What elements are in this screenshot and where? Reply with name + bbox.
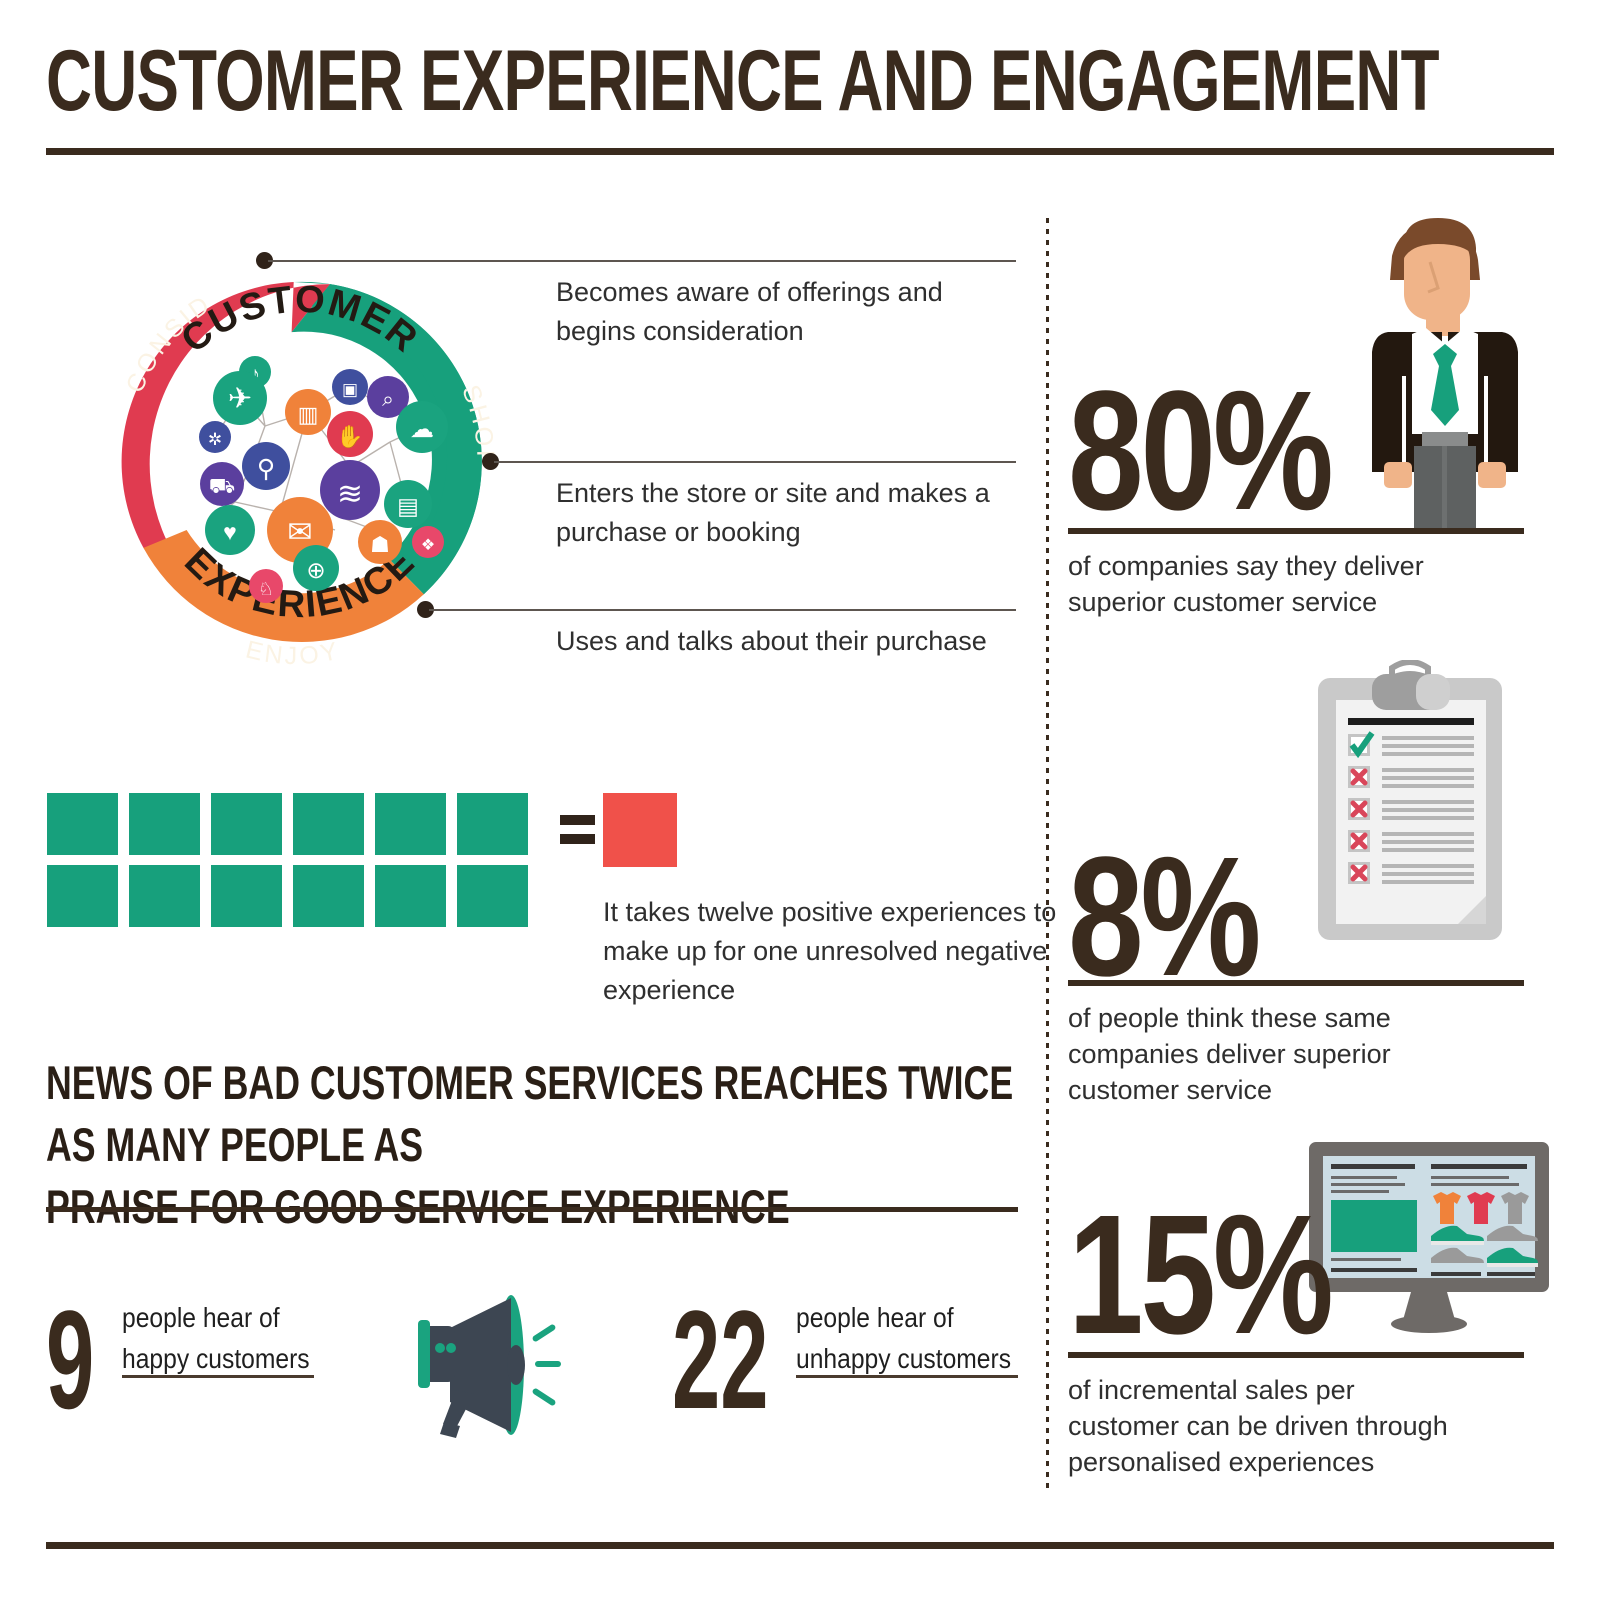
cycle-desc-enjoy: Uses and talks about their purchase — [556, 622, 1026, 661]
svg-text:♘: ♘ — [258, 579, 274, 599]
customer-experience-cycle: CONSIDER SHOP ENJOY CUSTOMER EXPERIENCE — [50, 212, 550, 712]
cycle-desc-consider: Becomes aware of offerings and begins co… — [556, 273, 1026, 351]
stat-caption-15-line2: customer can be driven through — [1068, 1408, 1508, 1444]
cycle-desc-shop: Enters the store or site and makes a pur… — [556, 474, 1024, 552]
icon-camera: ▣ — [332, 369, 368, 405]
unhappy-underline — [796, 1375, 1018, 1378]
businessman-icon — [1330, 214, 1560, 529]
positive-square — [47, 865, 118, 927]
stat-caption-80: of companies say they deliver superior c… — [1068, 548, 1488, 620]
icon-map-pin: ⚲ — [242, 442, 290, 490]
icon-puzzle: ❖ — [412, 526, 444, 558]
leader-line-enjoy — [429, 609, 1016, 611]
svg-text:⚲: ⚲ — [257, 455, 275, 483]
happy-label-line2: happy customers — [122, 1338, 404, 1379]
positive-square — [457, 865, 528, 927]
icon-document: ▤ — [384, 480, 432, 528]
svg-text:≋: ≋ — [337, 476, 363, 511]
svg-text:✉: ✉ — [287, 516, 312, 549]
ratio-note: It takes twelve positive experiences to … — [603, 893, 1071, 1010]
footer-divider — [46, 1542, 1554, 1549]
svg-text:☗: ☗ — [370, 532, 390, 557]
svg-text:▤: ▤ — [397, 493, 419, 519]
leader-line-consider — [268, 260, 1016, 262]
stat-rule-80 — [1068, 528, 1524, 534]
stat-caption-15-line1: of incremental sales per — [1068, 1372, 1508, 1408]
unhappy-number: 22 — [672, 1290, 769, 1430]
happy-underline — [122, 1375, 314, 1378]
infographic-page: CUSTOMER EXPERIENCE AND ENGAGEMENT — [0, 0, 1600, 1600]
stat-value-80: 80% — [1068, 366, 1331, 536]
icon-bar-chart: ▥ — [285, 389, 331, 435]
svg-text:✋: ✋ — [336, 424, 363, 449]
icon-thumbs-up: ✋ — [327, 411, 373, 457]
stat-value-15: 15% — [1068, 1190, 1331, 1360]
cycle-label-consider: CONSIDER — [50, 212, 217, 397]
megaphone-icon — [398, 1290, 598, 1440]
positive-square — [293, 865, 364, 927]
icon-microphone: ♘ — [249, 569, 283, 603]
icon-globe: ⊕ — [293, 545, 339, 591]
positive-square — [129, 865, 200, 927]
stat-caption-15: of incremental sales per customer can be… — [1068, 1372, 1508, 1480]
stat-caption-8-line3: customer service — [1068, 1072, 1488, 1108]
svg-text:▣: ▣ — [342, 380, 358, 399]
positive-square — [47, 793, 118, 855]
news-headline-line1: NEWS OF BAD CUSTOMER SERVICES REACHES TW… — [46, 1052, 1057, 1176]
happy-label: people hear of happy customers — [122, 1297, 404, 1379]
icon-heart: ♥ — [205, 505, 255, 555]
svg-text:⛟: ⛟ — [209, 475, 235, 498]
positive-square — [129, 793, 200, 855]
happy-number: 9 — [46, 1290, 94, 1430]
stat-rule-8 — [1068, 980, 1524, 986]
positive-square — [375, 865, 446, 927]
unhappy-label-line1: people hear of — [796, 1297, 1078, 1338]
svg-text:▥: ▥ — [298, 402, 319, 427]
icon-cloud: ☁ — [396, 401, 448, 453]
svg-text:⌕: ⌕ — [382, 388, 394, 411]
negative-square — [603, 793, 677, 867]
equals-sign — [560, 815, 595, 853]
stat-caption-80-line1: of companies say they deliver — [1068, 548, 1488, 584]
positive-square — [457, 793, 528, 855]
unhappy-label-line2: unhappy customers — [796, 1338, 1078, 1379]
svg-text:☁: ☁ — [410, 416, 434, 443]
stat-caption-15-line3: personalised experiences — [1068, 1444, 1508, 1480]
stat-value-8: 8% — [1068, 832, 1258, 1002]
positive-square — [211, 793, 282, 855]
stat-caption-8-line1: of people think these same — [1068, 1000, 1488, 1036]
positive-square — [375, 793, 446, 855]
leader-line-shop — [494, 461, 1016, 463]
page-title: CUSTOMER EXPERIENCE AND ENGAGEMENT — [46, 38, 971, 124]
happy-label-line1: people hear of — [122, 1297, 404, 1338]
news-divider — [46, 1207, 1018, 1212]
stat-caption-8: of people think these same companies del… — [1068, 1000, 1488, 1108]
icon-rss-feed: ≋ — [320, 460, 380, 520]
stat-rule-15 — [1068, 1352, 1524, 1358]
stat-caption-80-line2: superior customer service — [1068, 584, 1488, 620]
desktop-monitor-icon — [1305, 1140, 1555, 1340]
icon-shopping-cart: ⛟ — [200, 462, 244, 506]
icon-user-profile: ☗ — [358, 520, 402, 564]
svg-text:⊕: ⊕ — [306, 557, 325, 583]
positive-square — [211, 865, 282, 927]
title-divider — [46, 148, 1554, 155]
clipboard-checklist-icon — [1310, 660, 1510, 950]
positive-square — [293, 793, 364, 855]
svg-text:✲: ✲ — [208, 430, 222, 449]
unhappy-label: people hear of unhappy customers — [796, 1297, 1078, 1379]
stat-caption-8-line2: companies deliver superior — [1068, 1036, 1488, 1072]
icon-twitter-bird: ✈ — [213, 371, 267, 425]
svg-text:✈: ✈ — [228, 383, 252, 415]
svg-text:❖: ❖ — [421, 537, 435, 554]
svg-text:♥: ♥ — [223, 519, 237, 545]
icon-gear: ✲ — [199, 421, 231, 453]
